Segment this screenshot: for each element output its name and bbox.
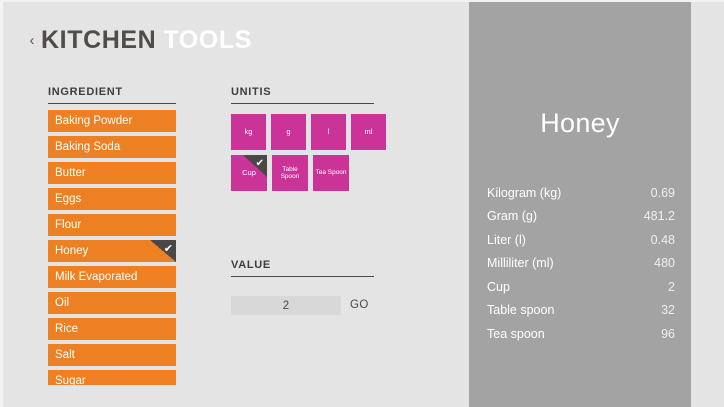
result-row-list: Kilogram (kg)0.69Gram (g)481.2Liter (l)0…: [487, 181, 675, 346]
app-window: ‹ KITCHENTOOLS INGREDIENT Baking PowderB…: [0, 0, 724, 407]
page-title-primary: KITCHEN: [41, 26, 156, 54]
unit-tile[interactable]: ml: [351, 114, 386, 150]
ingredient-label: Baking Soda: [55, 136, 120, 158]
result-row-value: 32: [661, 303, 675, 317]
result-row: Kilogram (kg)0.69: [487, 181, 675, 205]
value-input[interactable]: [231, 296, 341, 315]
check-icon: ✔: [256, 155, 264, 172]
result-row-value: 2: [668, 280, 675, 294]
ingredient-row[interactable]: Eggs: [48, 188, 176, 210]
result-row: Table spoon32: [487, 299, 675, 323]
ingredient-label: Flour: [55, 214, 81, 236]
unit-tile[interactable]: l: [311, 114, 346, 150]
app-header: ‹ KITCHENTOOLS: [3, 20, 252, 60]
result-row: Liter (l)0.48: [487, 228, 675, 252]
result-row-value: 481.2: [644, 209, 675, 223]
ingredient-label: Butter: [55, 162, 86, 184]
ingredient-label: Eggs: [55, 188, 81, 210]
ingredient-row[interactable]: Rice: [48, 318, 176, 340]
value-section-divider: [231, 276, 374, 277]
result-row-label: Kilogram (kg): [487, 186, 561, 200]
ingredient-label: Oil: [55, 292, 69, 314]
ingredient-label: Salt: [55, 344, 75, 366]
ingredient-row[interactable]: Milk Evaporated: [48, 266, 176, 288]
ingredient-row[interactable]: Baking Powder: [48, 110, 176, 132]
unit-tile-label: ml: [351, 114, 386, 150]
unit-tile-label: l: [311, 114, 346, 150]
ingredient-row[interactable]: Butter: [48, 162, 176, 184]
page-title-secondary: TOOLS: [163, 26, 252, 54]
result-row: Gram (g)481.2: [487, 205, 675, 229]
result-row-label: Gram (g): [487, 209, 537, 223]
result-row-label: Liter (l): [487, 233, 526, 247]
ingredient-label: Sugar: [55, 370, 86, 385]
result-row-label: Table spoon: [487, 303, 554, 317]
unit-tile-label: kg: [231, 114, 266, 150]
unit-tile-row: kgglml: [231, 114, 391, 150]
result-row-value: 480: [654, 256, 675, 270]
unit-tile-label: g: [271, 114, 306, 150]
result-row: Cup2: [487, 275, 675, 299]
unit-tile[interactable]: Tea Spoon: [313, 155, 349, 191]
unit-tile[interactable]: Cup✔: [231, 155, 267, 191]
ingredient-row[interactable]: Honey✔: [48, 240, 176, 262]
unit-tile-label: Table Spoon: [272, 155, 308, 191]
result-row: Tea spoon96: [487, 322, 675, 346]
ingredient-row[interactable]: Baking Soda: [48, 136, 176, 158]
ingredient-label: Honey: [55, 240, 88, 262]
ingredient-row[interactable]: Oil: [48, 292, 176, 314]
unit-tile-grid[interactable]: kgglmlCup✔Table SpoonTea Spoon: [231, 114, 391, 191]
result-row-value: 0.69: [651, 186, 675, 200]
result-row-label: Tea spoon: [487, 327, 545, 341]
check-icon: ✔: [164, 240, 173, 259]
ingredient-label: Rice: [55, 318, 78, 340]
value-section-heading: VALUE: [231, 259, 271, 271]
unit-tile-row: Cup✔Table SpoonTea Spoon: [231, 155, 391, 191]
unit-tile[interactable]: kg: [231, 114, 266, 150]
result-row: Milliliter (ml)480: [487, 252, 675, 276]
ingredient-row[interactable]: Sugar: [48, 370, 176, 385]
units-section-heading: UNITIS: [231, 86, 271, 98]
unit-tile-label: Tea Spoon: [313, 155, 349, 191]
ingredient-label: Milk Evaporated: [55, 266, 137, 288]
ingredient-label: Baking Powder: [55, 110, 132, 132]
ingredient-row[interactable]: Flour: [48, 214, 176, 236]
units-section-divider: [231, 103, 374, 104]
page-title: KITCHENTOOLS: [41, 28, 252, 53]
unit-tile[interactable]: g: [271, 114, 306, 150]
go-button[interactable]: GO: [350, 296, 369, 315]
result-panel: Honey Kilogram (kg)0.69Gram (g)481.2Lite…: [469, 0, 691, 407]
ingredient-row[interactable]: Salt: [48, 344, 176, 366]
ingredient-list[interactable]: Baking PowderBaking SodaButterEggsFlourH…: [48, 110, 176, 385]
ingredient-section-divider: [48, 103, 176, 104]
back-chevron-icon[interactable]: ‹: [23, 33, 41, 48]
result-row-value: 96: [661, 327, 675, 341]
result-row-value: 0.48: [651, 233, 675, 247]
result-title: Honey: [469, 108, 691, 139]
ingredient-section-heading: INGREDIENT: [48, 86, 123, 98]
result-row-label: Cup: [487, 280, 510, 294]
result-row-label: Milliliter (ml): [487, 256, 554, 270]
unit-tile[interactable]: Table Spoon: [272, 155, 308, 191]
